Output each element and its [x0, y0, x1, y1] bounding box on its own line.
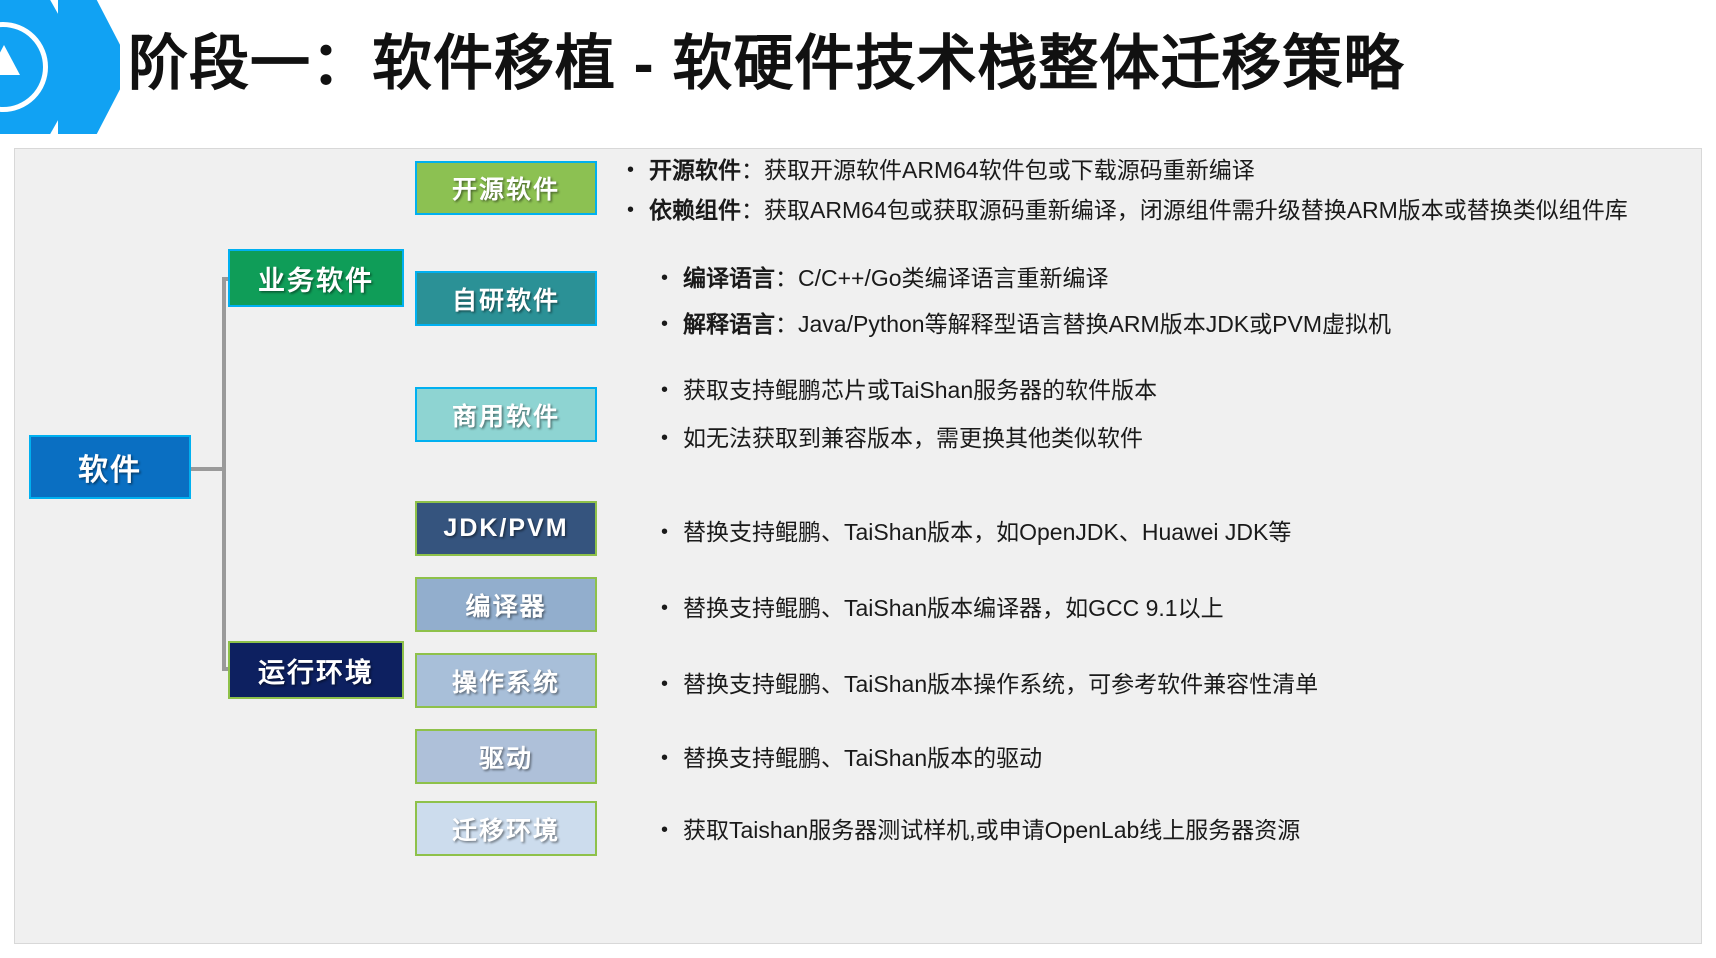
diagram-box-leaf-open-source-software[interactable]: 开源软件: [415, 161, 597, 215]
connector-root-stub: [190, 467, 226, 471]
bullet-text: 替换支持鲲鹏、TaiShan版本的驱动: [683, 741, 1627, 775]
bullet-dot-icon: •: [661, 261, 683, 295]
diagram-box-leaf-migration-environment[interactable]: 迁移环境: [415, 801, 597, 856]
diagram-box-branch-runtime-environment[interactable]: 运行环境: [228, 641, 404, 699]
bullet-text: 如无法获取到兼容版本，需更换其他类似软件: [683, 421, 1627, 455]
diagram-box-leaf-label: 开源软件: [452, 170, 560, 206]
diagram-box-leaf-label: 商用软件: [452, 397, 560, 433]
hexagon-arrow-logo-icon: [0, 0, 120, 134]
bullet-text: 替换支持鲲鹏、TaiShan版本，如OpenJDK、Huawei JDK等: [683, 515, 1627, 549]
bullet-dot-icon: •: [627, 193, 649, 227]
bullet-dot-icon: •: [661, 591, 683, 625]
bullet-lead: 依赖组件: [649, 197, 741, 223]
page-title: 阶段一：软件移植 - 软硬件技术栈整体迁移策略: [128, 16, 1688, 112]
bullet-line: • 替换支持鲲鹏、TaiShan版本，如OpenJDK、Huawei JDK等: [661, 515, 1627, 549]
bullet-line: • 编译语言：C/C++/Go类编译语言重新编译: [661, 261, 1627, 295]
bullet-group-os: • 替换支持鲲鹏、TaiShan版本操作系统，可参考软件兼容性清单: [627, 667, 1627, 701]
bullet-group-driver: • 替换支持鲲鹏、TaiShan版本的驱动: [627, 741, 1627, 775]
slide-header: 阶段一：软件移植 - 软硬件技术栈整体迁移策略: [0, 0, 1716, 136]
bullet-text: 依赖组件：获取ARM64包或获取源码重新编译，闭源组件需升级替换ARM版本或替换…: [649, 193, 1687, 227]
bullet-dot-icon: •: [661, 307, 683, 341]
bullet-line: • 获取Taishan服务器测试样机,或申请OpenLab线上服务器资源: [661, 813, 1627, 847]
bullet-text: 解释语言：Java/Python等解释型语言替换ARM版本JDK或PVM虚拟机: [683, 307, 1627, 341]
bullet-group-compiler: • 替换支持鲲鹏、TaiShan版本编译器，如GCC 9.1以上: [627, 591, 1627, 625]
bullet-text: 获取Taishan服务器测试样机,或申请OpenLab线上服务器资源: [683, 813, 1627, 847]
bullet-line: • 解释语言：Java/Python等解释型语言替换ARM版本JDK或PVM虚拟…: [661, 307, 1627, 341]
bullet-sep: ：: [741, 157, 764, 183]
bullet-text: 编译语言：C/C++/Go类编译语言重新编译: [683, 261, 1627, 295]
bullet-dot-icon: •: [627, 153, 649, 187]
bullet-text: 获取支持鲲鹏芯片或TaiShan服务器的软件版本: [683, 373, 1627, 407]
bullet-sep: ：: [741, 197, 764, 223]
bullet-line: • 替换支持鲲鹏、TaiShan版本操作系统，可参考软件兼容性清单: [661, 667, 1627, 701]
diagram-box-leaf-operating-system[interactable]: 操作系统: [415, 653, 597, 708]
bullet-body: 获取ARM64包或获取源码重新编译，闭源组件需升级替换ARM版本或替换类似组件库: [764, 197, 1628, 223]
logo-triangle-shape: [0, 45, 20, 75]
bullet-line: • 替换支持鲲鹏、TaiShan版本的驱动: [661, 741, 1627, 775]
connector-trunk: [222, 277, 226, 671]
bullet-dot-icon: •: [661, 667, 683, 701]
bullet-dot-icon: •: [661, 741, 683, 775]
diagram-box-leaf-label: 自研软件: [452, 281, 560, 317]
slide-canvas: 阶段一：软件移植 - 软硬件技术栈整体迁移策略 软件 业务软件 运行环境 开源软…: [0, 0, 1716, 958]
diagram-box-leaf-label: JDK/PVM: [443, 514, 568, 543]
bullet-line: • 开源软件：获取开源软件ARM64软件包或下载源码重新编译: [627, 153, 1687, 187]
diagram-box-leaf-label: 操作系统: [452, 663, 560, 699]
bullet-sep: ：: [775, 311, 798, 337]
bullet-sep: ：: [775, 265, 798, 291]
bullet-text: 替换支持鲲鹏、TaiShan版本操作系统，可参考软件兼容性清单: [683, 667, 1627, 701]
diagram-box-branch-business-software[interactable]: 业务软件: [228, 249, 404, 307]
bullet-line: • 如无法获取到兼容版本，需更换其他类似软件: [661, 421, 1627, 455]
diagram-box-leaf-label: 编译器: [465, 587, 546, 623]
bullet-body: Java/Python等解释型语言替换ARM版本JDK或PVM虚拟机: [798, 311, 1391, 337]
diagram-box-leaf-self-developed-software[interactable]: 自研软件: [415, 271, 597, 326]
bullet-line: • 替换支持鲲鹏、TaiShan版本编译器，如GCC 9.1以上: [661, 591, 1627, 625]
bullet-group-jdk-pvm: • 替换支持鲲鹏、TaiShan版本，如OpenJDK、Huawei JDK等: [627, 515, 1627, 549]
bullet-text: 开源软件：获取开源软件ARM64软件包或下载源码重新编译: [649, 153, 1687, 187]
diagram-box-leaf-commercial-software[interactable]: 商用软件: [415, 387, 597, 442]
diagram-box-leaf-driver[interactable]: 驱动: [415, 729, 597, 784]
diagram-box-root-label: 软件: [78, 445, 142, 489]
bullet-group-open-source: • 开源软件：获取开源软件ARM64软件包或下载源码重新编译 • 依赖组件：获取…: [627, 153, 1687, 227]
bullet-lead: 编译语言: [683, 265, 775, 291]
diagram-box-root-software[interactable]: 软件: [29, 435, 191, 499]
bullet-line: • 依赖组件：获取ARM64包或获取源码重新编译，闭源组件需升级替换ARM版本或…: [627, 193, 1687, 227]
bullet-text: 替换支持鲲鹏、TaiShan版本编译器，如GCC 9.1以上: [683, 591, 1627, 625]
bullet-lead: 开源软件: [649, 157, 741, 183]
bullet-dot-icon: •: [661, 813, 683, 847]
diagram-box-branch-label: 业务软件: [258, 259, 374, 298]
diagram-box-branch-label: 运行环境: [258, 651, 374, 690]
logo-chevron-2: [78, 0, 120, 134]
bullet-group-migration-env: • 获取Taishan服务器测试样机,或申请OpenLab线上服务器资源: [627, 813, 1627, 847]
bullet-dot-icon: •: [661, 373, 683, 407]
diagram-box-leaf-jdk-pvm[interactable]: JDK/PVM: [415, 501, 597, 556]
diagram-box-leaf-compiler[interactable]: 编译器: [415, 577, 597, 632]
bullet-dot-icon: •: [661, 421, 683, 455]
bullet-lead: 解释语言: [683, 311, 775, 337]
diagram-box-leaf-label: 驱动: [479, 739, 533, 775]
bullet-group-self-developed: • 编译语言：C/C++/Go类编译语言重新编译 • 解释语言：Java/Pyt…: [627, 261, 1627, 341]
diagram-box-leaf-label: 迁移环境: [452, 811, 560, 847]
bullet-group-commercial: • 获取支持鲲鹏芯片或TaiShan服务器的软件版本 • 如无法获取到兼容版本，…: [627, 373, 1627, 455]
bullet-body: C/C++/Go类编译语言重新编译: [798, 265, 1109, 291]
bullet-body: 获取开源软件ARM64软件包或下载源码重新编译: [764, 157, 1255, 183]
bullet-line: • 获取支持鲲鹏芯片或TaiShan服务器的软件版本: [661, 373, 1627, 407]
bullet-dot-icon: •: [661, 515, 683, 549]
content-panel: 软件 业务软件 运行环境 开源软件 自研软件 商用软件 JDK/PVM 编译器 …: [14, 148, 1702, 944]
